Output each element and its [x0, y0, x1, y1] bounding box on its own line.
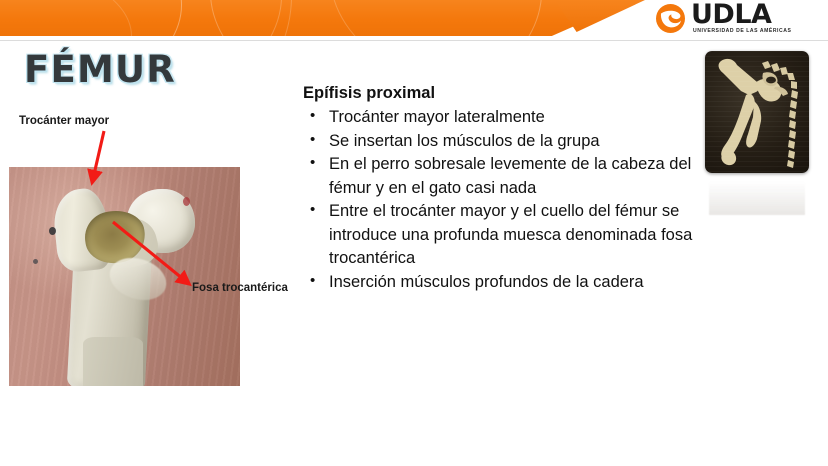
skeleton-image [705, 51, 809, 221]
udla-swirl-mark-icon [655, 4, 686, 33]
header-divider [0, 40, 828, 41]
photo-dark-spot [49, 227, 56, 235]
slide: UDLA UNIVERSIDAD DE LAS AMÉRICAS FÉMUR T… [0, 0, 828, 466]
skeleton-image-frame [705, 51, 809, 173]
list-item: Trocánter mayor lateralmente [303, 106, 703, 130]
content-heading: Epífisis proximal [303, 82, 703, 105]
skeleton-image-texture [705, 51, 809, 173]
page-title: FÉMUR [24, 48, 176, 91]
banner-swirl-decoration [0, 0, 132, 36]
list-item: En el perro sobresale levemente de la ca… [303, 153, 703, 200]
content-block: Epífisis proximal Trocánter mayor latera… [303, 82, 703, 294]
label-fosa-trocanterica: Fosa trocantérica [192, 282, 288, 294]
femur-distal-shaft [83, 337, 143, 386]
label-trocanter-mayor: Trocánter mayor [19, 115, 109, 127]
skeleton-image-reflection [709, 175, 805, 215]
udla-logo: UDLA UNIVERSIDAD DE LAS AMÉRICAS [655, 2, 823, 38]
photo-dark-spot [33, 259, 38, 264]
list-item: Se insertan los músculos de la grupa [303, 130, 703, 154]
content-bullet-list: Trocánter mayor lateralmente Se insertan… [303, 106, 703, 294]
list-item: Inserción músculos profundos de la cader… [303, 271, 703, 295]
logo-wordmark: UDLA [691, 1, 771, 28]
logo-tagline: UNIVERSIDAD DE LAS AMÉRICAS [693, 28, 791, 34]
header-banner [0, 0, 620, 36]
list-item: Entre el trocánter mayor y el cuello del… [303, 200, 703, 271]
photo-red-mark [183, 197, 190, 206]
header-banner-fill [0, 0, 620, 36]
femur-photograph [9, 167, 240, 386]
